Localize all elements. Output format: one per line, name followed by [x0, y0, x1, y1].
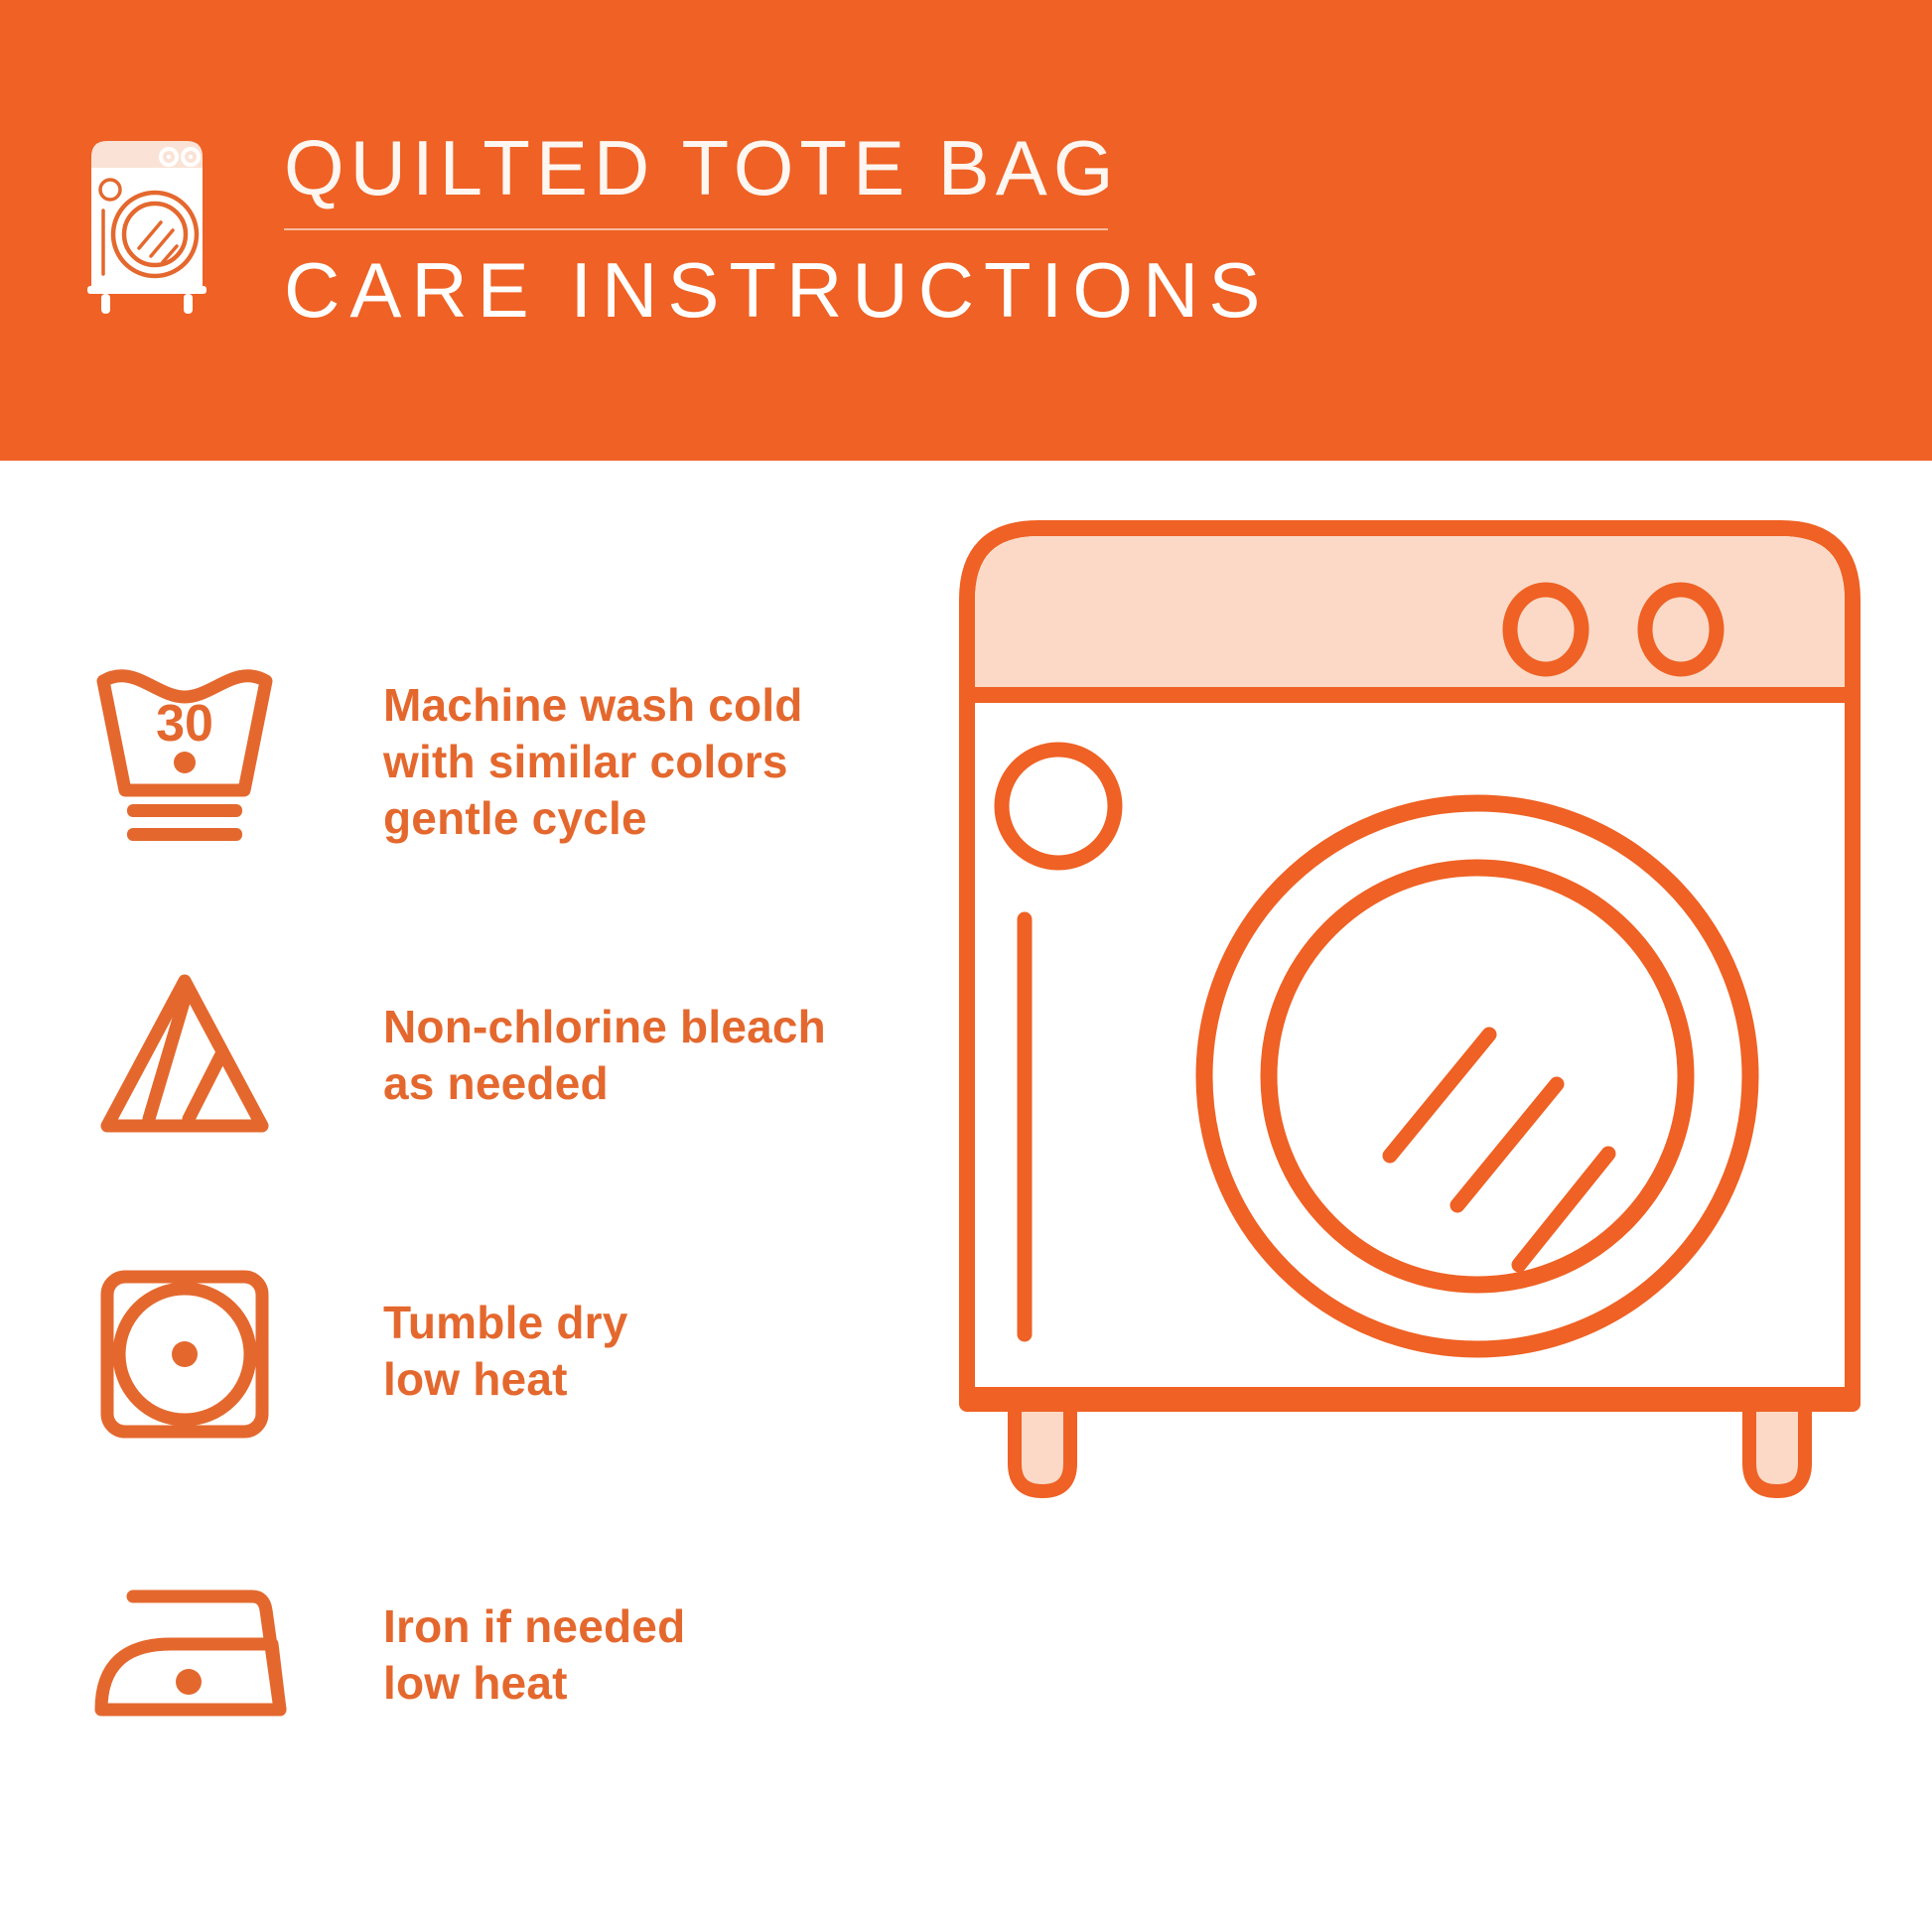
care-line: low heat	[383, 1655, 685, 1712]
care-item-iron: Iron if needed low heat	[85, 1543, 899, 1841]
tumble-dry-low-heat-icon	[85, 1255, 294, 1453]
care-line: with similar colors	[383, 734, 803, 790]
care-item-bleach-text: Non-chlorine bleach as needed	[383, 999, 826, 1112]
main-content: 30 Machine wash cold with similar colors…	[0, 461, 1932, 1932]
header-content: QUILTED TOTE BAG CARE INSTRUCTIONS	[77, 129, 1118, 330]
header-banner: QUILTED TOTE BAG CARE INSTRUCTIONS	[0, 0, 1932, 461]
care-line: as needed	[383, 1055, 826, 1112]
care-line: low heat	[383, 1351, 628, 1408]
header-titles: QUILTED TOTE BAG CARE INSTRUCTIONS	[284, 129, 1118, 330]
care-line: Non-chlorine bleach	[383, 999, 826, 1055]
non-chlorine-bleach-triangle-icon	[85, 965, 294, 1164]
care-line: Tumble dry	[383, 1295, 628, 1351]
title-divider	[284, 228, 1108, 230]
care-line: Iron if needed	[383, 1598, 685, 1655]
wash-temperature-value: 30	[156, 695, 213, 753]
care-item-machine-wash: 30 Machine wash cold with similar colors…	[85, 649, 899, 947]
care-item-bleach: Non-chlorine bleach as needed	[85, 947, 899, 1245]
machine-wash-30-gentle-icon: 30	[85, 659, 294, 858]
page-title: QUILTED TOTE BAG	[284, 129, 1118, 207]
care-item-iron-text: Iron if needed low heat	[383, 1598, 685, 1712]
care-instruction-list: 30 Machine wash cold with similar colors…	[85, 649, 899, 1841]
care-item-tumble-dry: Tumble dry low heat	[85, 1245, 899, 1543]
care-line: Machine wash cold	[383, 677, 803, 734]
care-item-machine-wash-text: Machine wash cold with similar colors ge…	[383, 677, 803, 847]
care-line: gentle cycle	[383, 790, 803, 847]
washing-machine-logo-icon	[77, 135, 216, 314]
page-subtitle: CARE INSTRUCTIONS	[284, 250, 1118, 330]
iron-low-heat-icon	[85, 1559, 294, 1757]
washing-machine-illustration	[953, 510, 1866, 1513]
care-item-tumble-dry-text: Tumble dry low heat	[383, 1295, 628, 1408]
